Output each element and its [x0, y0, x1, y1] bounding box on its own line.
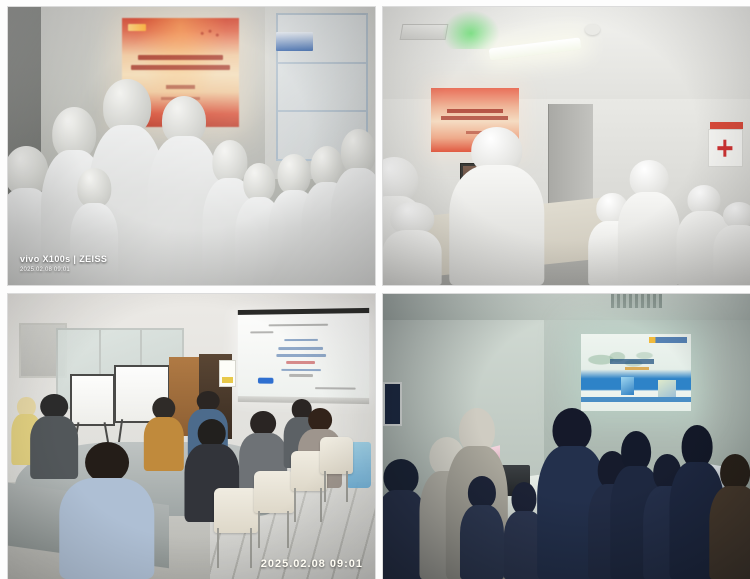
photo-timestamp: 2025.02.08 09:01	[261, 558, 363, 570]
watermark-timestamp: 2025.02.08 09:01	[20, 266, 107, 275]
scene-meeting-room	[383, 7, 750, 285]
scene-conference-room	[8, 294, 375, 579]
photo-top-right[interactable]	[383, 7, 750, 285]
vignette	[8, 294, 375, 579]
photo-bottom-right[interactable]	[383, 294, 750, 579]
scene-cleanroom-corridor	[8, 7, 375, 285]
watermark-brand: vivo X100s | ZEISS	[20, 253, 107, 266]
vignette	[383, 7, 750, 285]
vignette	[383, 294, 750, 579]
photo-collage: vivo X100s | ZEISS 2025.02.08 09:01	[0, 0, 750, 579]
vignette	[8, 7, 375, 285]
photo-top-left[interactable]: vivo X100s | ZEISS 2025.02.08 09:01	[8, 7, 375, 285]
photo-bottom-left[interactable]: 2025.02.08 09:01	[8, 294, 375, 579]
scene-training-room	[383, 294, 750, 579]
camera-watermark: vivo X100s | ZEISS 2025.02.08 09:01	[20, 253, 107, 275]
